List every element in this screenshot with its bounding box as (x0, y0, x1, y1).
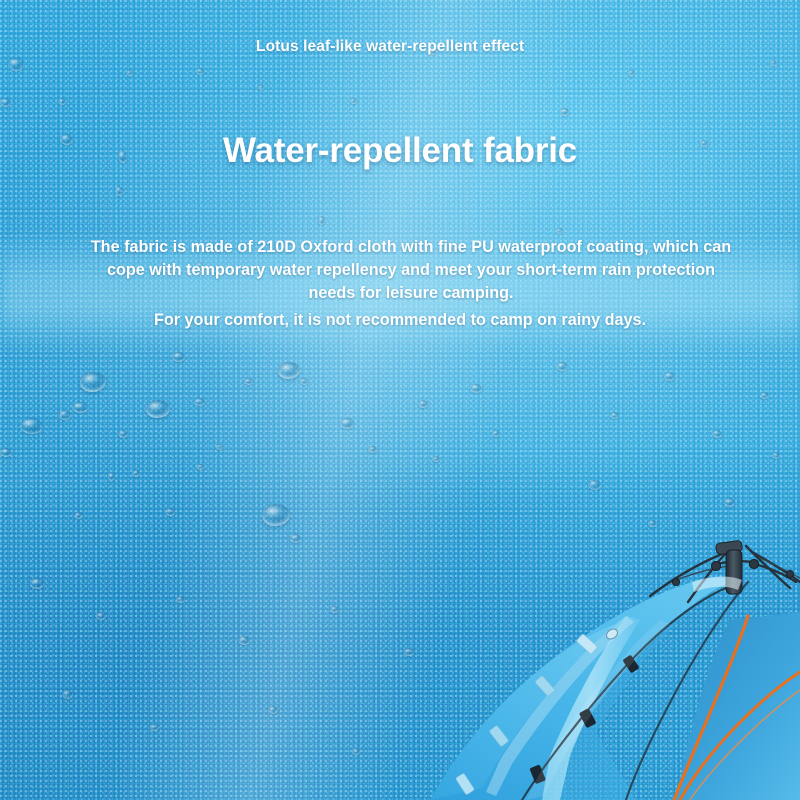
body-text: The fabric is made of 210D Oxford cloth … (86, 236, 736, 305)
copy-layer: Lotus leaf-like water-repellent effect W… (0, 0, 800, 800)
water-repellent-fabric-banner: Lotus leaf-like water-repellent effect W… (0, 0, 800, 800)
eyebrow-text: Lotus leaf-like water-repellent effect (256, 36, 556, 58)
page-title: Water-repellent fabric (0, 131, 800, 171)
note-text: For your comfort, it is not recommended … (0, 311, 800, 330)
